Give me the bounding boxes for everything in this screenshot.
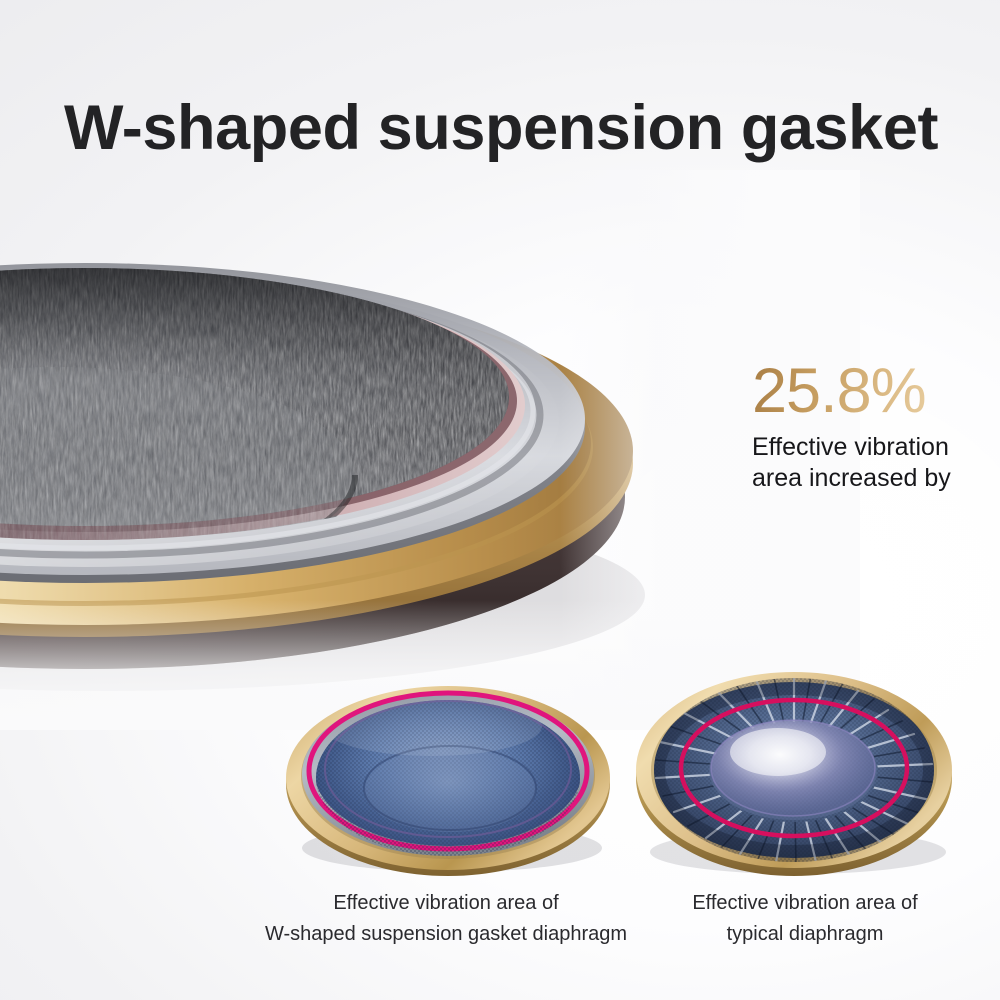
caption-typical-line-2: typical diaphragm [620,919,990,950]
stat-caption-line-2: area increased by [752,464,951,492]
diaphragm-w-shaped [282,670,614,882]
stat-value: 25.8% [752,356,984,426]
hero-speaker-image [0,175,765,695]
diaphragm-typical [630,660,958,882]
diaphragm-comparison: Effective vibration area of W-shaped sus… [0,648,1000,1000]
stat-callout: 25.8% Effective vibration area increased… [752,356,984,494]
page-title: W-shaped suspension gasket [64,92,944,164]
stat-caption: Effective vibration area increased by [752,432,984,494]
caption-typical: Effective vibration area of typical diap… [620,888,990,950]
stat-caption-line-1: Effective vibration [752,433,949,461]
center-dome [709,720,877,820]
product-feature-graphic: W-shaped suspension gasket [0,0,1000,1000]
caption-typical-line-1: Effective vibration area of [620,888,990,919]
